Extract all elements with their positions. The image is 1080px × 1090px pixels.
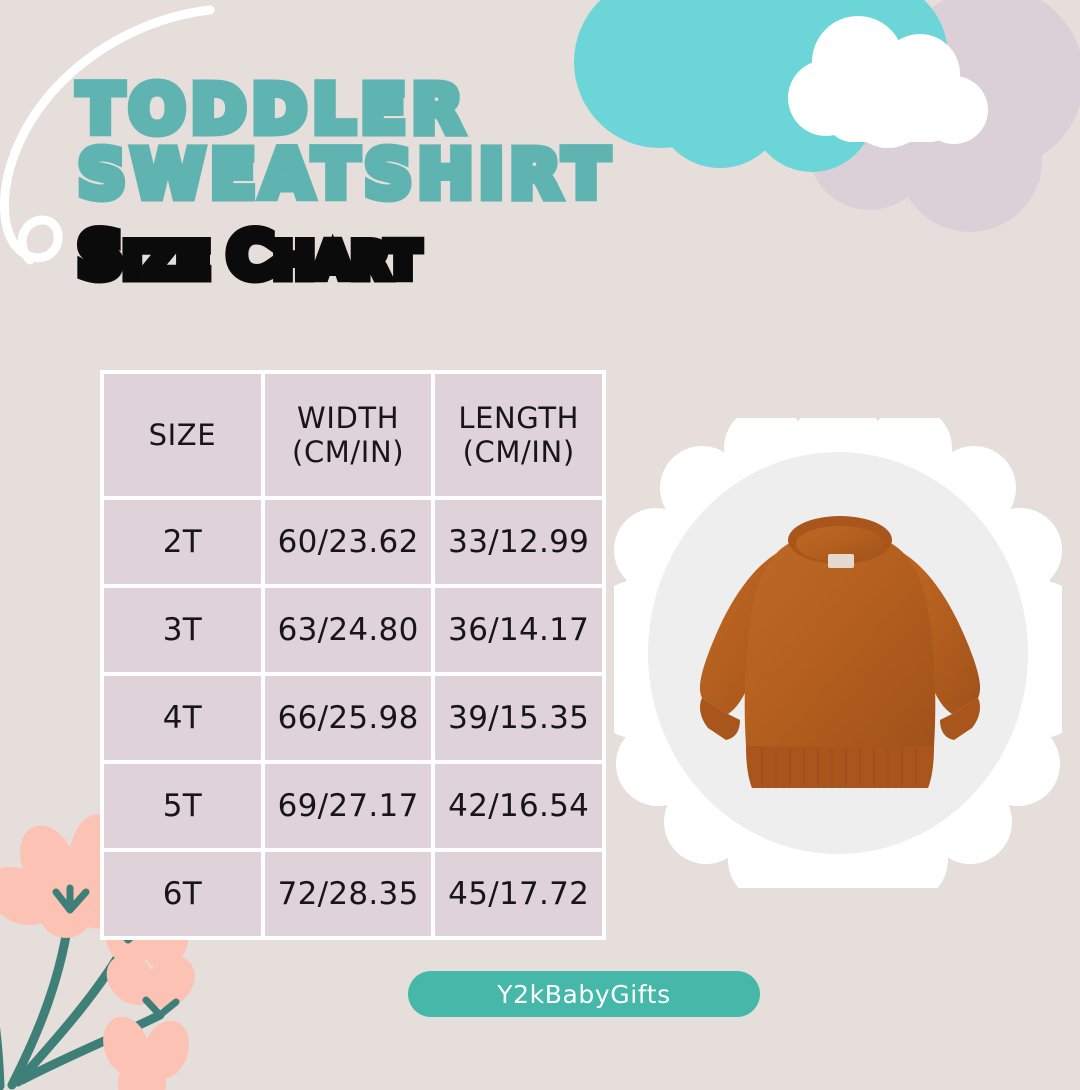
column-header-width-line1: WIDTH [297,401,399,435]
brand-name: Y2kBabyGifts [497,980,671,1009]
title-line-2: SWEATSHIRT [78,143,778,208]
table-row: 6T 72/28.35 45/17.72 [104,852,602,936]
column-header-length-line1: LENGTH [458,401,579,435]
title-top: TODDLER SWEATSHIRT [78,78,778,207]
column-header-width: WIDTH (CM/IN) [265,374,432,496]
lilac-cloud-icon [808,0,1080,232]
cell-width: 66/25.98 [265,676,432,760]
neck-tag-icon [828,554,854,568]
product-photo-frame [614,418,1062,888]
page-title-hart: HART [274,234,420,289]
page-title: SIZE CHART [78,225,778,287]
column-header-width-line2: (CM/IN) [267,435,430,469]
page-title-s: S [78,219,124,292]
flower-head-pink-3 [96,1011,197,1090]
cell-length: 45/17.72 [435,852,602,936]
table-row: 2T 60/23.62 33/12.99 [104,500,602,584]
cell-size: 6T [104,852,261,936]
sweatshirt-image [670,492,1010,822]
product-photo [648,452,1028,854]
cell-width: 63/24.80 [265,588,432,672]
cell-length: 39/15.35 [435,676,602,760]
cell-length: 36/14.17 [435,588,602,672]
white-cloud-icon [788,16,988,148]
brand-badge[interactable]: Y2kBabyGifts [408,971,760,1017]
table-row: 4T 66/25.98 39/15.35 [104,676,602,760]
title-block: TODDLER SWEATSHIRT SIZE CHART [78,78,778,287]
size-chart-table: SIZE WIDTH (CM/IN) LENGTH (CM/IN) 2T 60/… [100,370,606,940]
column-header-length-line2: (CM/IN) [437,435,600,469]
table-row: 5T 69/27.17 42/16.54 [104,764,602,848]
page-title-ize: IZE [124,234,228,289]
column-header-size: SIZE [104,374,261,496]
cell-width: 72/28.35 [265,852,432,936]
column-header-length: LENGTH (CM/IN) [435,374,602,496]
cell-size: 5T [104,764,261,848]
cell-size: 3T [104,588,261,672]
cell-width: 69/27.17 [265,764,432,848]
cell-length: 33/12.99 [435,500,602,584]
cell-size: 4T [104,676,261,760]
page-title-c: C [228,219,275,292]
table-row: 3T 63/24.80 36/14.17 [104,588,602,672]
cell-width: 60/23.62 [265,500,432,584]
cell-size: 2T [104,500,261,584]
cell-length: 42/16.54 [435,764,602,848]
table-header-row: SIZE WIDTH (CM/IN) LENGTH (CM/IN) [104,374,602,496]
